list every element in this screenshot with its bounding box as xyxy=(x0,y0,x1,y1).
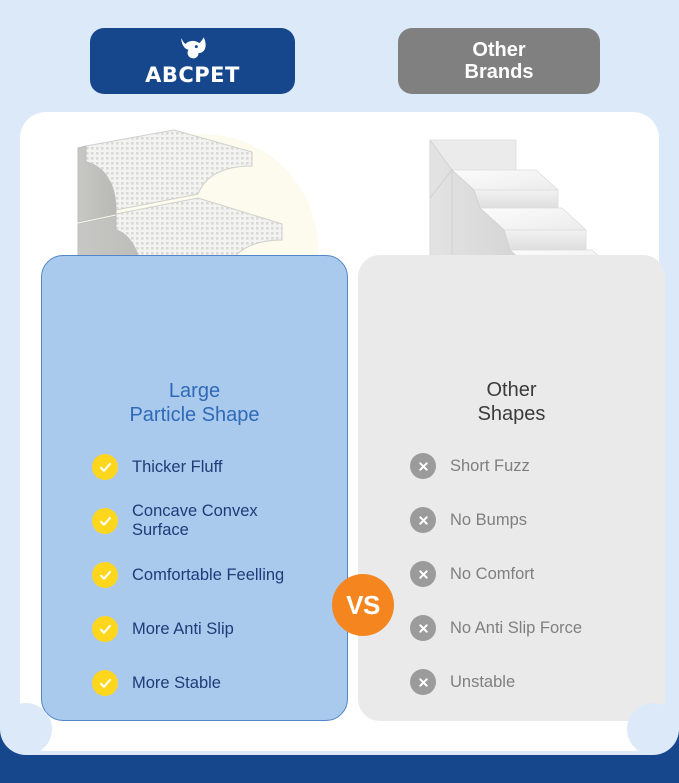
list-item: More Anti Slip xyxy=(42,602,347,656)
feature-label: No Bumps xyxy=(450,511,527,530)
abcpet-feature-list: Thicker Fluff Concave Convex Surface Com… xyxy=(42,440,347,710)
bottom-band xyxy=(0,755,679,783)
feature-label: Thicker Fluff xyxy=(132,458,222,477)
list-item: Thicker Fluff xyxy=(42,440,347,494)
feature-label: More Stable xyxy=(132,674,221,693)
list-item: Comfortable Feelling xyxy=(42,548,347,602)
panel-other-brands-title-line-2: Shapes xyxy=(358,402,665,426)
header-badges: ABCPET Other Brands xyxy=(0,0,679,100)
feature-label: Unstable xyxy=(450,673,515,692)
vs-badge: VS xyxy=(332,574,394,636)
brand-badge: ABCPET xyxy=(90,28,295,94)
other-brands-badge: Other Brands xyxy=(398,28,600,94)
list-item: Concave Convex Surface xyxy=(42,494,347,548)
panel-abcpet: Large Particle Shape Thicker Fluff Conca… xyxy=(41,255,348,721)
list-item: No Anti Slip Force xyxy=(358,601,665,655)
other-brands-line-2: Brands xyxy=(465,61,534,83)
feature-label: More Anti Slip xyxy=(132,620,234,639)
list-item: Short Fuzz xyxy=(358,439,665,493)
list-item: No Comfort xyxy=(358,547,665,601)
cross-icon xyxy=(410,669,436,695)
comparison-card: Large Particle Shape Thicker Fluff Conca… xyxy=(20,112,659,751)
panel-abcpet-title-line-2: Particle Shape xyxy=(42,403,347,427)
list-item: No Bumps xyxy=(358,493,665,547)
band-corner-right xyxy=(653,729,679,755)
panel-abcpet-title-line-1: Large xyxy=(42,379,347,403)
feature-label: Concave Convex Surface xyxy=(132,502,258,540)
check-icon xyxy=(92,670,118,696)
other-brands-feature-list: Short Fuzz No Bumps No Comfort xyxy=(358,439,665,709)
cross-icon xyxy=(410,561,436,587)
check-icon xyxy=(92,562,118,588)
brand-logo-text: ABCPET xyxy=(145,65,240,86)
panel-other-brands-title-line-1: Other xyxy=(358,378,665,402)
feature-label: No Comfort xyxy=(450,565,534,584)
panel-other-brands: Other Shapes Short Fuzz No Bumps xyxy=(358,255,665,721)
band-corner-left xyxy=(0,729,26,755)
list-item: Unstable xyxy=(358,655,665,709)
list-item: More Stable xyxy=(42,656,347,710)
dog-head-icon xyxy=(176,37,210,64)
feature-label: Comfortable Feelling xyxy=(132,566,284,585)
panel-abcpet-title: Large Particle Shape xyxy=(42,379,347,428)
cross-icon xyxy=(410,615,436,641)
feature-label: No Anti Slip Force xyxy=(450,619,582,638)
check-icon xyxy=(92,616,118,642)
comparison-infographic: ABCPET Other Brands xyxy=(0,0,679,783)
panel-other-brands-title: Other Shapes xyxy=(358,378,665,427)
other-brands-line-1: Other xyxy=(472,39,525,61)
check-icon xyxy=(92,454,118,480)
feature-label: Short Fuzz xyxy=(450,457,530,476)
cross-icon xyxy=(410,507,436,533)
cross-icon xyxy=(410,453,436,479)
check-icon xyxy=(92,508,118,534)
